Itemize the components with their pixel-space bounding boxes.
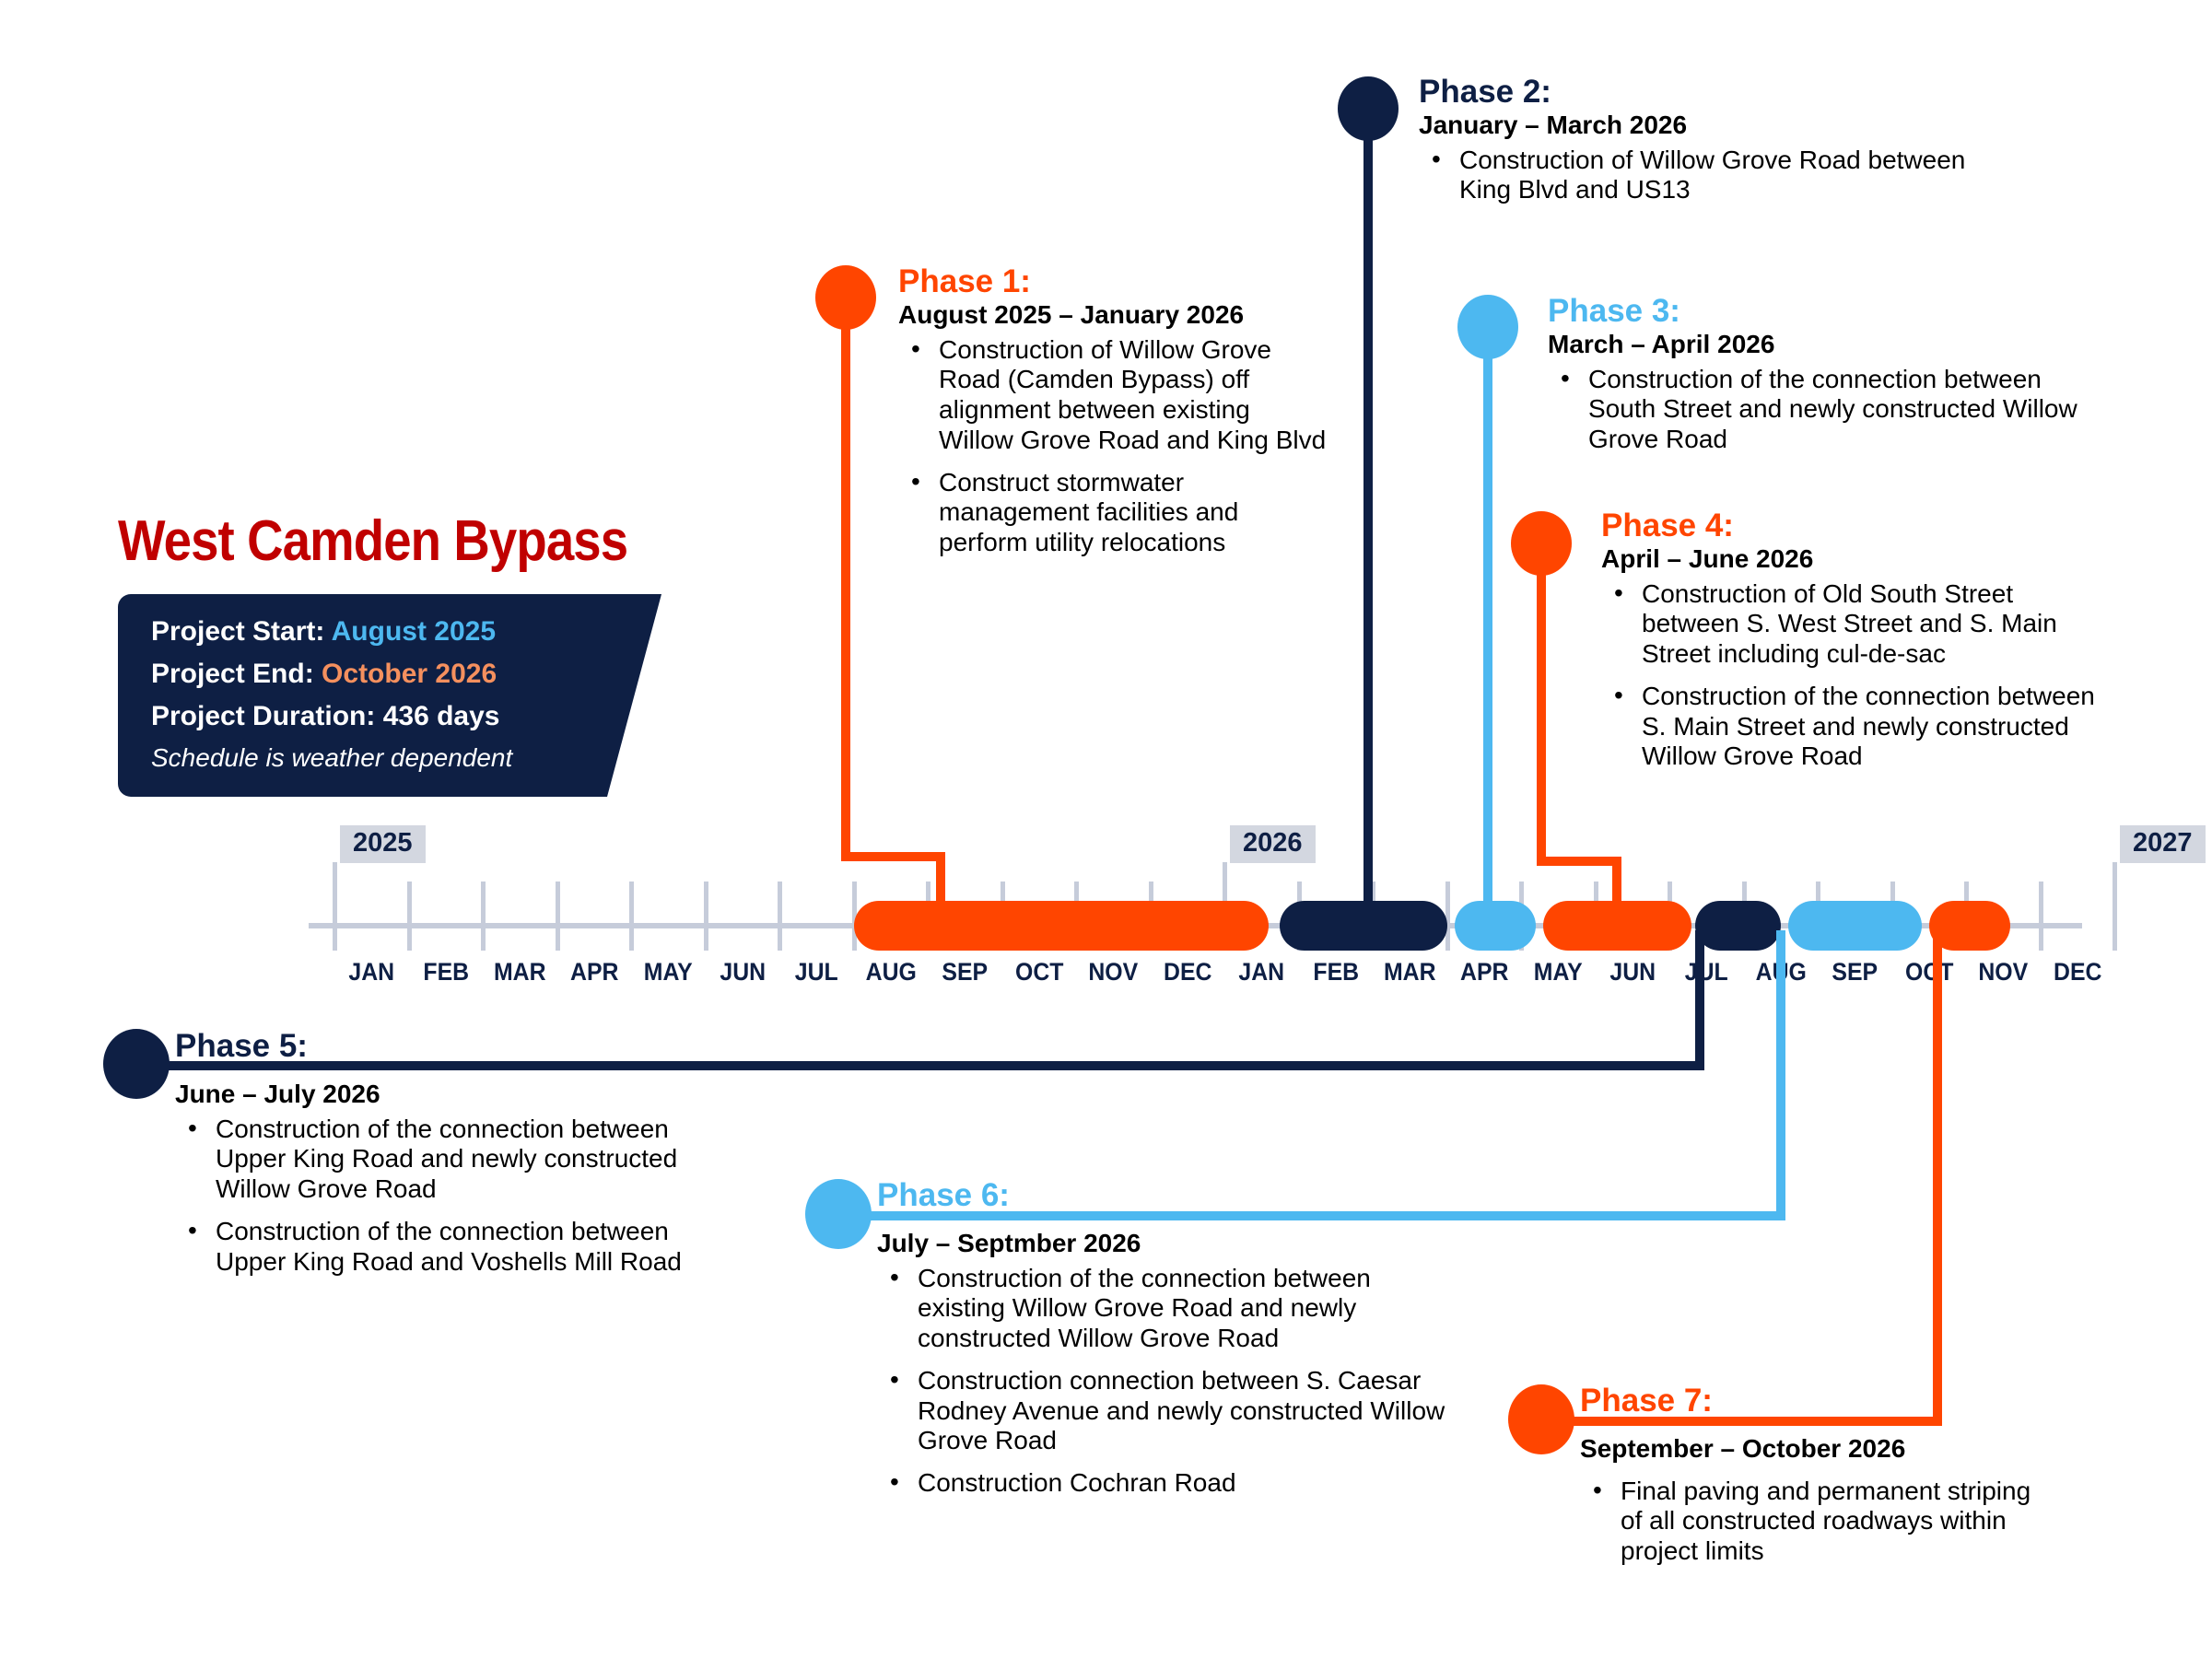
phase-block-4: Phase 4: April – June 2026 •Construction… [1601, 509, 2117, 772]
year-flag-2026: 2026 [1230, 825, 1316, 863]
bullet-icon: • [890, 1365, 899, 1395]
bullet-text: Construction of the connection between U… [216, 1115, 677, 1204]
bullet-text: Construction of Old South Street between… [1642, 579, 2057, 669]
phase-dates-2: January – March 2026 [1419, 111, 2008, 140]
phase-5-connector [1695, 930, 1704, 1061]
bullet-icon: • [1593, 1476, 1602, 1506]
phase-block-7: Phase 7: September – October 2026 •Final… [1580, 1384, 2050, 1567]
list-item: •Construction of Willow Grove Road betwe… [1419, 146, 2008, 206]
month-tick [556, 882, 560, 951]
bullet-text: Construction of the connection between U… [216, 1217, 682, 1276]
phase-block-5: Phase 5: June – July 2026 •Construction … [175, 1030, 700, 1277]
list-item: •Construction of the connection between … [175, 1115, 700, 1205]
phase-dates-5: June – July 2026 [175, 1080, 700, 1109]
phase-bullets-4: •Construction of Old South Street betwee… [1601, 579, 2117, 773]
month-tick [481, 882, 486, 951]
month-label: JUN [708, 958, 777, 987]
phase-bar-3 [1455, 901, 1537, 951]
year-flag-2025: 2025 [340, 825, 426, 863]
phase-bar-6 [1788, 901, 1922, 951]
bullet-icon: • [1432, 145, 1441, 175]
month-tick [629, 882, 634, 951]
phase-4-connector [1537, 857, 1621, 866]
list-item: •Final paving and permanent striping of … [1580, 1477, 2050, 1567]
phase-dates-7: September – October 2026 [1580, 1435, 2050, 1464]
month-label: JUL [1672, 958, 1740, 987]
month-label: AUG [857, 958, 925, 987]
month-label: DEC [2043, 958, 2112, 987]
phase-7-connector [1933, 930, 1942, 1417]
phase-bullets-5: •Construction of the connection between … [175, 1115, 700, 1278]
month-label: SEP [1820, 958, 1889, 987]
phase-3-dot [1457, 295, 1518, 359]
list-item: •Construction of the connection between … [175, 1217, 700, 1278]
phase-4-connector [1537, 543, 1546, 857]
phase-block-3: Phase 3: March – April 2026 •Constructio… [1548, 295, 2082, 455]
phase-6-dot [805, 1179, 872, 1249]
list-item: •Construction of the connection between … [877, 1264, 1448, 1354]
month-label: MAR [486, 958, 554, 987]
bullet-icon: • [1561, 364, 1570, 394]
month-label: MAY [634, 958, 702, 987]
month-label: APR [1450, 958, 1518, 987]
phase-4-connector [1612, 857, 1621, 921]
month-tick [2039, 882, 2043, 951]
month-label: MAY [1524, 958, 1592, 987]
bullet-icon: • [890, 1467, 899, 1498]
phase-bar-5 [1695, 901, 1781, 951]
phase-bullets-7: •Final paving and permanent striping of … [1580, 1477, 2050, 1567]
phase-bar-1 [854, 901, 1270, 951]
phase-dates-4: April – June 2026 [1601, 545, 2117, 574]
month-label: FEB [412, 958, 480, 987]
list-item: •Construct stormwater management facilit… [898, 468, 1331, 558]
phase-title-2: Phase 2: [1419, 76, 2008, 110]
phase-dates-1: August 2025 – January 2026 [898, 301, 1331, 330]
phase-2-connector [1363, 109, 1373, 921]
month-label: FEB [1302, 958, 1370, 987]
phase-5-dot [103, 1029, 170, 1099]
bullet-icon: • [911, 334, 920, 365]
list-item: •Construction of the connection between … [1601, 682, 2117, 772]
infographic-root: West Camden Bypass Project Start: August… [0, 0, 2212, 1658]
list-item: •Construction of Willow Grove Road (Camd… [898, 335, 1331, 456]
year-tick [333, 862, 337, 951]
bullet-icon: • [1614, 681, 1623, 711]
bullet-text: Construction of the connection between S… [1588, 365, 2077, 454]
list-item: •Construction Cochran Road [877, 1468, 1448, 1499]
month-label: JUL [782, 958, 850, 987]
list-item: •Construction of Old South Street betwee… [1601, 579, 2117, 670]
month-label: OCT [1895, 958, 1963, 987]
month-tick [778, 882, 782, 951]
phase-bullets-1: •Construction of Willow Grove Road (Camd… [898, 335, 1331, 558]
bullet-icon: • [890, 1263, 899, 1293]
phase-bullets-3: •Construction of the connection between … [1548, 365, 2082, 455]
phase-block-2: Phase 2: January – March 2026 •Construct… [1419, 76, 2008, 205]
phase-title-4: Phase 4: [1601, 509, 2117, 543]
month-label: DEC [1153, 958, 1222, 987]
bullet-text: Construction of Willow Grove Road (Camde… [939, 335, 1326, 454]
month-label: OCT [1005, 958, 1073, 987]
phase-1-connector [936, 852, 945, 921]
phase-dates-6: July – Septmber 2026 [877, 1230, 1448, 1258]
bullet-text: Construction of the connection between S… [1642, 682, 2095, 771]
month-label: JAN [337, 958, 405, 987]
year-tick [2113, 862, 2117, 951]
bullet-text: Construction of the connection between e… [918, 1264, 1371, 1353]
month-label: NOV [1969, 958, 2037, 987]
phase-2-dot [1338, 76, 1399, 141]
phase-title-3: Phase 3: [1548, 295, 2082, 329]
bullet-icon: • [188, 1114, 197, 1144]
phase-4-dot [1511, 511, 1572, 576]
bullet-icon: • [1614, 578, 1623, 609]
phase-title-1: Phase 1: [898, 265, 1331, 299]
bullet-text: Construct stormwater management faciliti… [939, 468, 1238, 557]
year-flag-2027: 2027 [2120, 825, 2206, 863]
bullet-text: Construction of Willow Grove Road betwee… [1459, 146, 1965, 204]
month-label: APR [560, 958, 628, 987]
phase-bullets-2: •Construction of Willow Grove Road betwe… [1419, 146, 2008, 206]
phase-title-5: Phase 5: [175, 1030, 700, 1064]
month-label: NOV [1079, 958, 1147, 987]
phase-6-connector [1776, 930, 1785, 1211]
month-label: MAR [1375, 958, 1444, 987]
phase-title-7: Phase 7: [1580, 1384, 2050, 1419]
month-tick [407, 882, 412, 951]
month-label: JAN [1227, 958, 1295, 987]
bullet-text: Construction connection between S. Caesa… [918, 1366, 1445, 1455]
phase-dates-3: March – April 2026 [1548, 331, 2082, 359]
bullet-text: Construction Cochran Road [918, 1468, 1236, 1497]
phase-block-6: Phase 6: July – Septmber 2026 •Construct… [877, 1179, 1448, 1499]
bullet-icon: • [188, 1216, 197, 1246]
phase-1-connector [841, 852, 945, 861]
list-item: •Construction of the connection between … [1548, 365, 2082, 455]
phase-1-dot [815, 265, 876, 330]
phase-block-1: Phase 1: August 2025 – January 2026 •Con… [898, 265, 1331, 558]
phase-title-6: Phase 6: [877, 1179, 1448, 1213]
month-label: JUN [1598, 958, 1667, 987]
list-item: •Construction connection between S. Caes… [877, 1366, 1448, 1456]
month-label: SEP [930, 958, 999, 987]
phase-bullets-6: •Construction of the connection between … [877, 1264, 1448, 1499]
phase-1-connector [841, 298, 850, 852]
phase-3-connector [1483, 327, 1492, 921]
month-tick [704, 882, 708, 951]
bullet-text: Final paving and permanent striping of a… [1621, 1477, 2031, 1566]
phase-7-dot [1508, 1384, 1574, 1454]
bullet-icon: • [911, 467, 920, 497]
